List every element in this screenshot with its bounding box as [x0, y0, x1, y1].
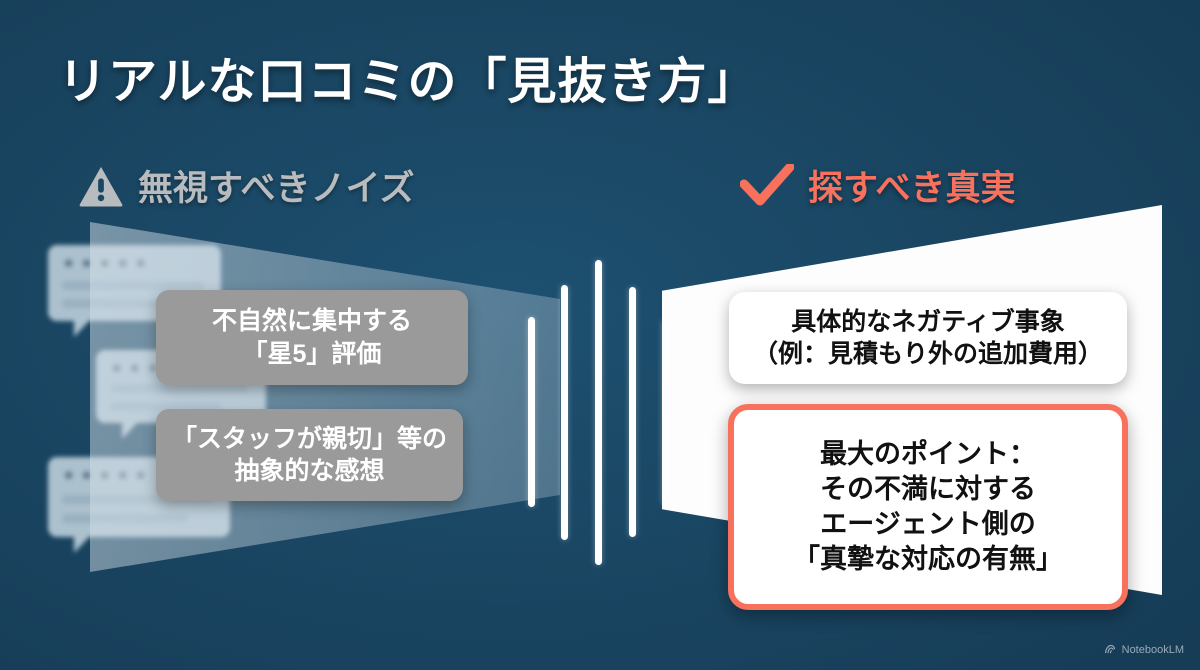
- noise-card-1-text: 不自然に集中する 「星5」評価: [212, 305, 412, 370]
- star-icon: ★: [62, 469, 75, 482]
- noise-card-2-line1: 「スタッフが親切」等の: [172, 423, 447, 456]
- truth-card-highlighted-line2: その不満に対する: [793, 472, 1063, 507]
- filter-bar: [629, 287, 636, 537]
- left-section-heading: 無視すべきノイズ: [78, 160, 415, 211]
- truth-card-highlighted-line4: 「真摯な対応の有無」: [793, 542, 1063, 577]
- watermark-label: NotebookLM: [1122, 644, 1184, 656]
- filter-bar: [662, 320, 669, 505]
- notebooklm-logo-icon: [1104, 643, 1117, 656]
- filter-bars-group: [528, 225, 678, 600]
- watermark: NotebookLM: [1104, 643, 1184, 656]
- funnel-input-shape: [90, 222, 560, 572]
- noise-card-2-text: 「スタッフが親切」等の 抽象的な感想: [172, 423, 447, 488]
- noise-card-1: 不自然に集中する 「星5」評価: [156, 290, 468, 385]
- bubble-tail: [74, 536, 90, 553]
- truth-card-highlighted-line3: エージェント側の: [793, 507, 1063, 542]
- page-title: リアルな口コミの「見抜き方」: [58, 42, 758, 113]
- star-icon: ★: [62, 257, 75, 270]
- filter-bar: [595, 260, 602, 565]
- warning-triangle-icon: [78, 165, 124, 207]
- truth-card-1-text: 具体的なネガティブ事象 （例：見積もり外の追加費用）: [753, 306, 1103, 371]
- noise-card-1-line1: 不自然に集中する: [212, 305, 412, 338]
- noise-card-2: 「スタッフが親切」等の 抽象的な感想: [156, 409, 463, 501]
- right-section-heading-label: 探すべき真実: [808, 160, 1016, 211]
- truth-card-1-line2: （例：見積もり外の追加費用）: [753, 338, 1103, 371]
- filter-bar: [528, 317, 535, 507]
- filter-bar: [561, 285, 568, 540]
- infographic-canvas: ★ ★ ★ ★ ★ ★ ★ ★ ★ ★ ★: [0, 0, 1200, 670]
- truth-card-1-line1: 具体的なネガティブ事象: [753, 306, 1103, 339]
- noise-card-2-line2: 抽象的な感想: [172, 455, 447, 488]
- truth-card-highlighted: 最大のポイント： その不満に対する エージェント側の 「真摯な対応の有無」: [728, 404, 1128, 610]
- left-section-heading-label: 無視すべきノイズ: [138, 160, 415, 211]
- truth-card-highlighted-line1: 最大のポイント：: [793, 437, 1063, 472]
- right-section-heading: 探すべき真実: [740, 160, 1016, 211]
- check-mark-icon: [740, 164, 794, 208]
- truth-card-highlighted-text: 最大のポイント： その不満に対する エージェント側の 「真摯な対応の有無」: [793, 437, 1063, 577]
- noise-card-1-line2: 「星5」評価: [212, 338, 412, 371]
- bubble-tail: [74, 320, 90, 337]
- truth-card-1: 具体的なネガティブ事象 （例：見積もり外の追加費用）: [729, 292, 1127, 384]
